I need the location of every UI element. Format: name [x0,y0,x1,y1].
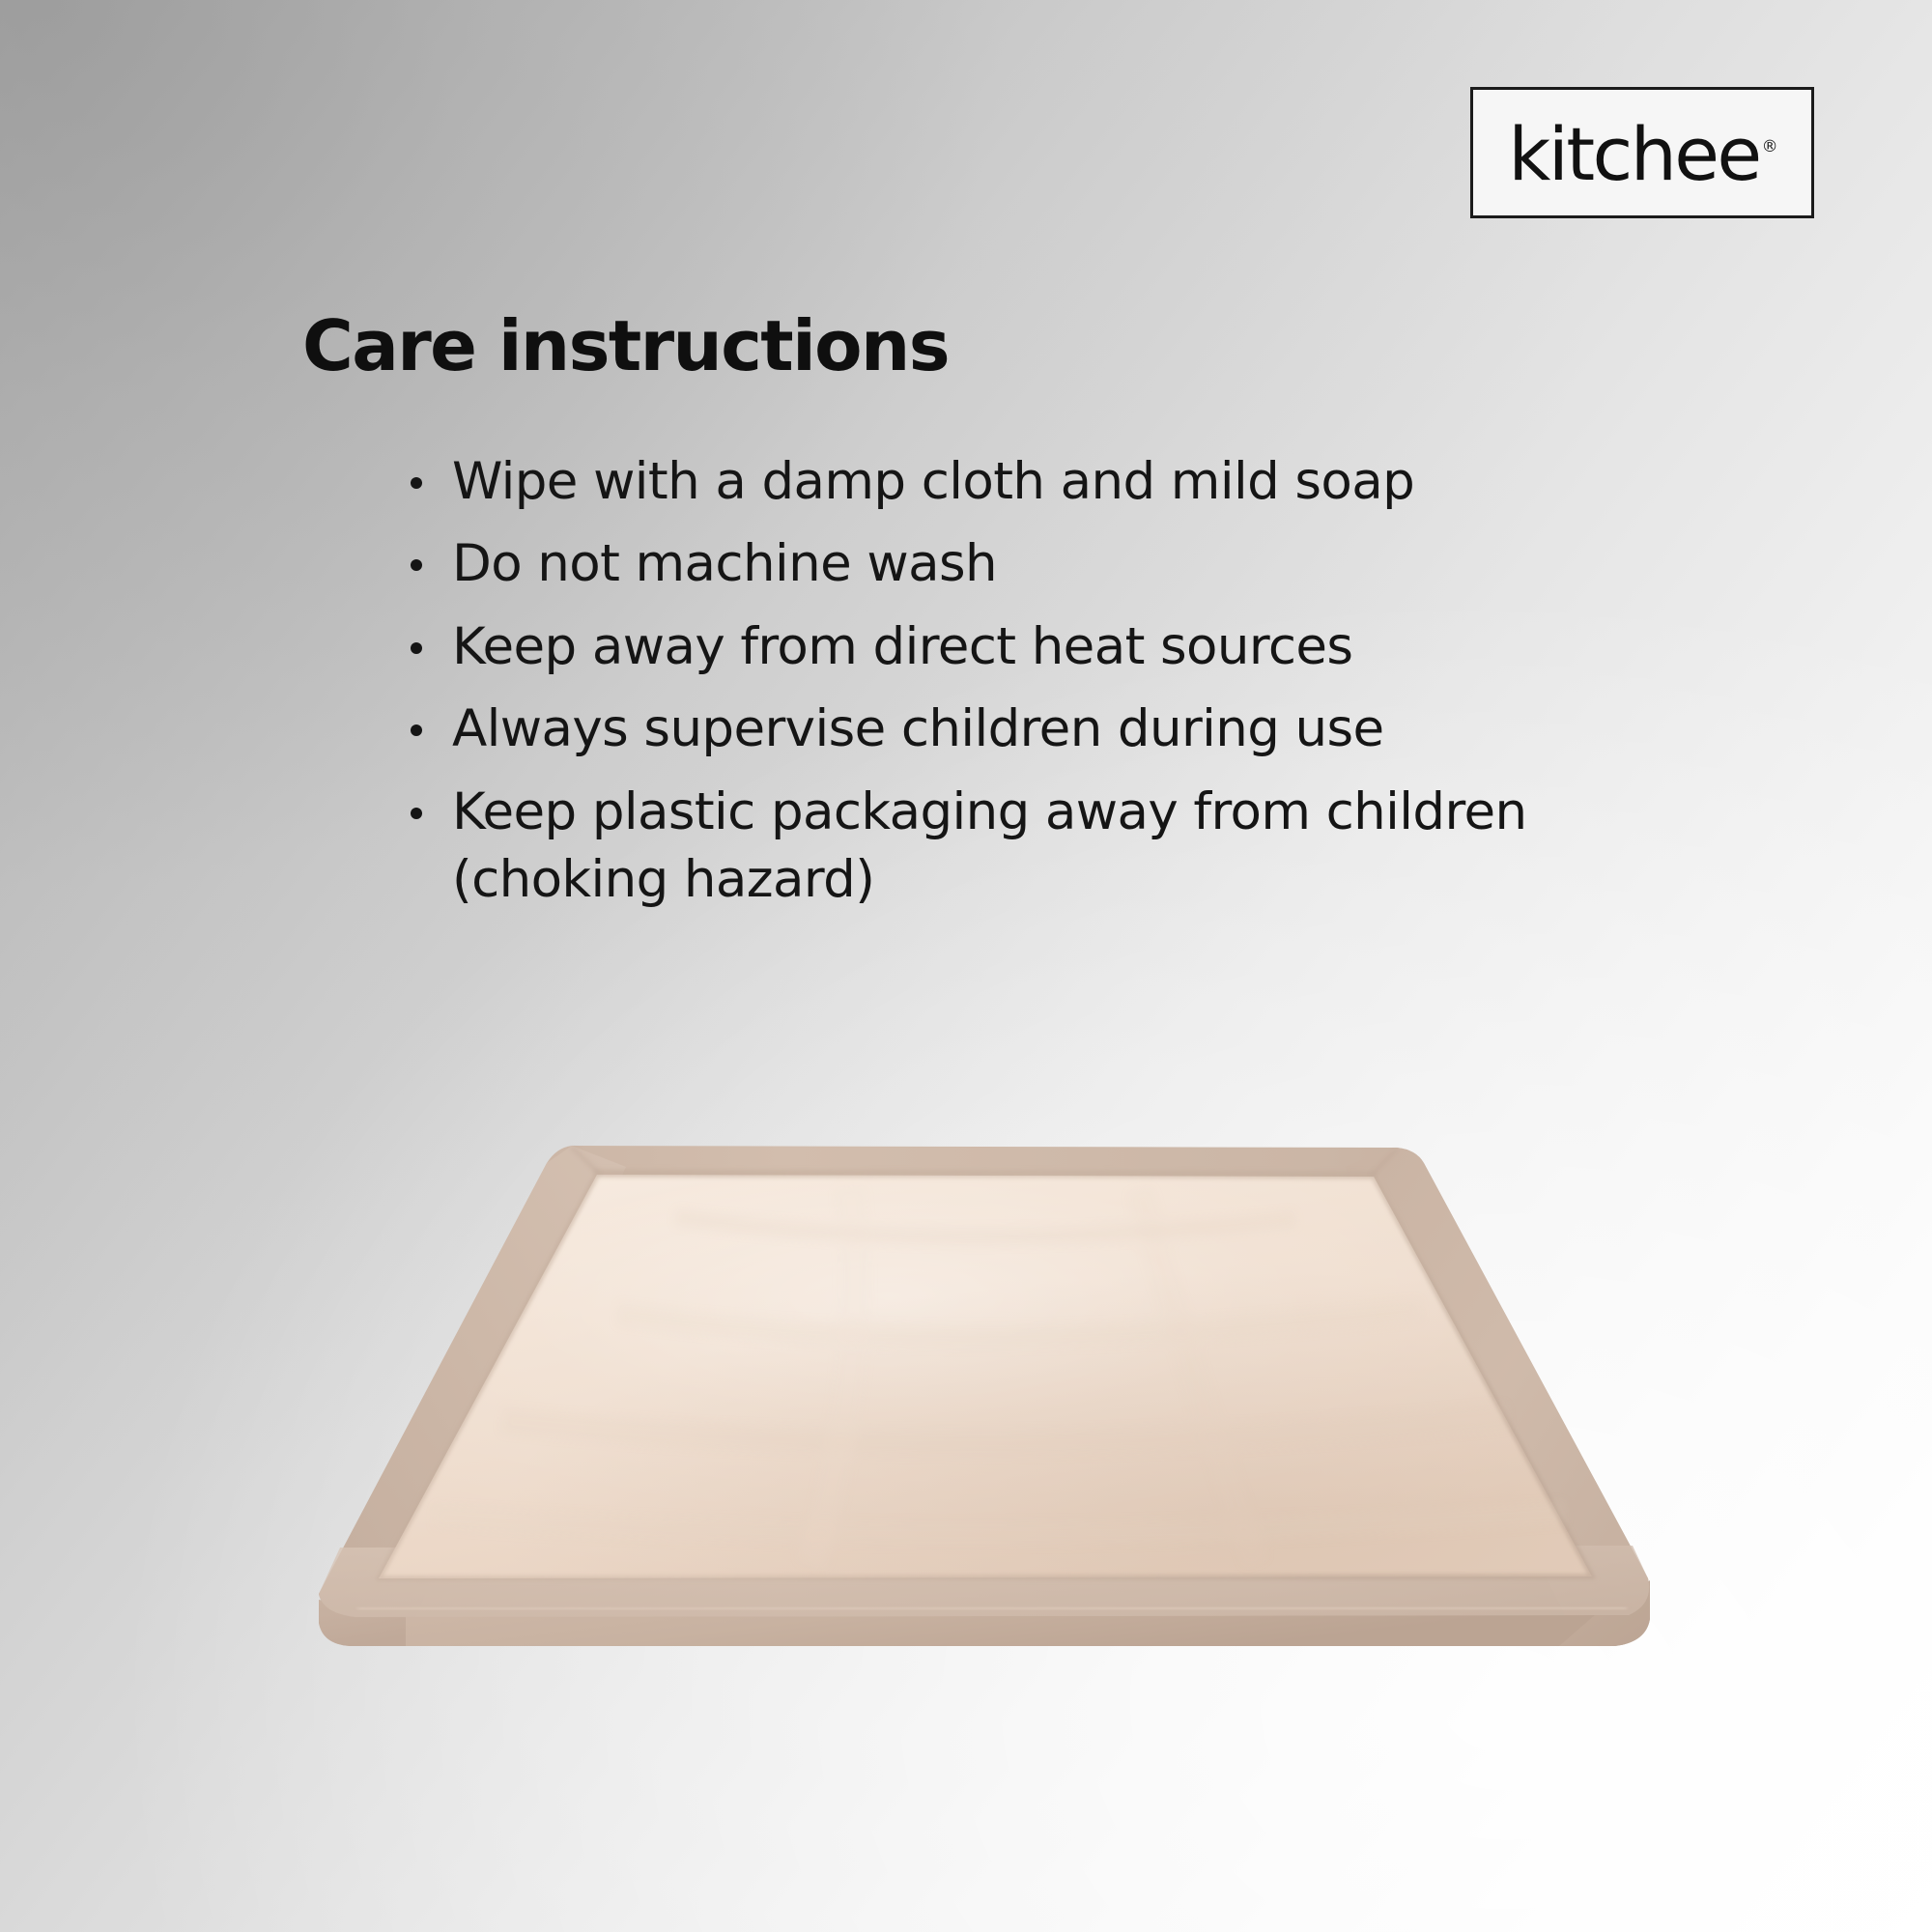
product-care-slide: kitchee ® Care instructions Wipe with a … [0,0,1932,1932]
brand-name: kitchee [1508,122,1759,187]
list-item: Keep away from direct heat sources [406,613,1681,681]
background-highlight [0,0,1932,1932]
care-instructions-list: Wipe with a damp cloth and mild soap Do … [406,448,1681,929]
page-title: Care instructions [302,305,949,386]
brand-logo: kitchee ® [1470,87,1814,218]
list-item: Do not machine wash [406,530,1681,598]
brand-logo-inner: kitchee ® [1508,120,1776,185]
registered-trademark-icon: ® [1762,139,1778,156]
list-item: Wipe with a damp cloth and mild soap [406,448,1681,516]
list-item: Keep plastic packaging away from childre… [406,779,1681,915]
list-item: Always supervise children during use [406,696,1681,763]
